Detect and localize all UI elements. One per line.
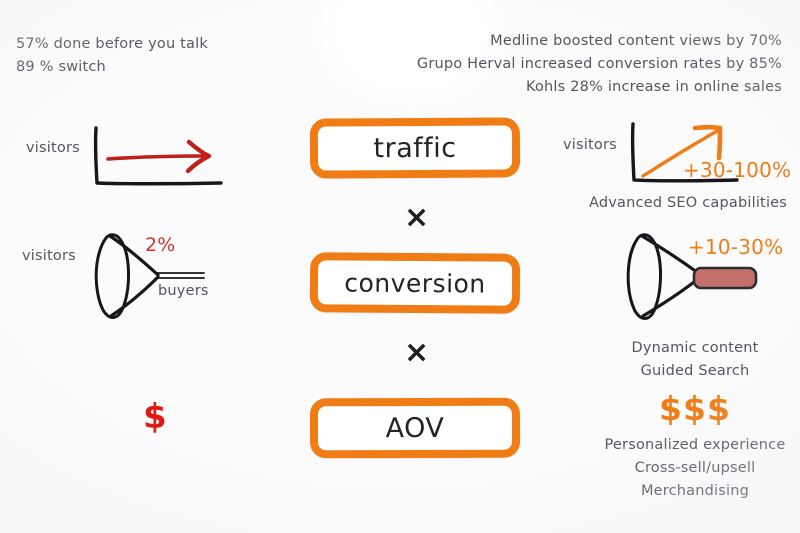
note-line: Guided Search — [600, 360, 790, 383]
left-chart-visitors-label: visitors — [26, 140, 80, 156]
stat-line: 57% done before you talk — [16, 33, 208, 56]
case-study-line: Medline boosted content views by 70% — [417, 30, 782, 53]
left-funnel-visitors-label: visitors — [22, 248, 76, 264]
left-money-symbol: $ — [143, 400, 167, 434]
note-line: Dynamic content — [600, 337, 790, 360]
note-line: Personalized experience — [590, 434, 800, 457]
right-money-symbol: $$$ — [600, 392, 790, 425]
left-conversion-funnel — [84, 228, 224, 324]
multiply-operator-1: × — [404, 203, 429, 233]
stats-right-block: Medline boosted content views by 70% Gru… — [417, 30, 782, 99]
formula-box-label: conversion — [344, 270, 486, 296]
note-line: Cross-sell/upsell — [590, 457, 800, 480]
case-study-line: Grupo Herval increased conversion rates … — [417, 53, 782, 76]
right-money-notes: Personalized experience Cross-sell/upsel… — [590, 434, 800, 503]
formula-box-label: traffic — [373, 134, 456, 162]
right-chart-gain-label: +30-100% — [683, 158, 791, 182]
formula-box-conversion[interactable]: conversion — [310, 252, 520, 313]
stat-line: 89 % switch — [16, 56, 208, 79]
right-chart-visitors-label: visitors — [563, 137, 617, 153]
right-funnel-notes: Dynamic content Guided Search — [600, 337, 790, 383]
multiply-operator-2: × — [404, 338, 429, 368]
right-funnel-gain-label: +10-30% — [688, 235, 783, 259]
right-chart-caption: Advanced SEO capabilities — [589, 195, 787, 211]
whiteboard-canvas: 57% done before you talk 89 % switch Med… — [0, 0, 800, 533]
case-study-line: Kohls 28% increase in online sales — [417, 76, 782, 99]
formula-box-label: AOV — [386, 414, 445, 441]
formula-box-aov[interactable]: AOV — [310, 398, 520, 459]
note-line: Merchandising — [590, 480, 800, 503]
left-flat-traffic-chart — [88, 126, 228, 196]
formula-box-traffic[interactable]: traffic — [310, 117, 520, 178]
stats-left-block: 57% done before you talk 89 % switch — [16, 33, 208, 79]
